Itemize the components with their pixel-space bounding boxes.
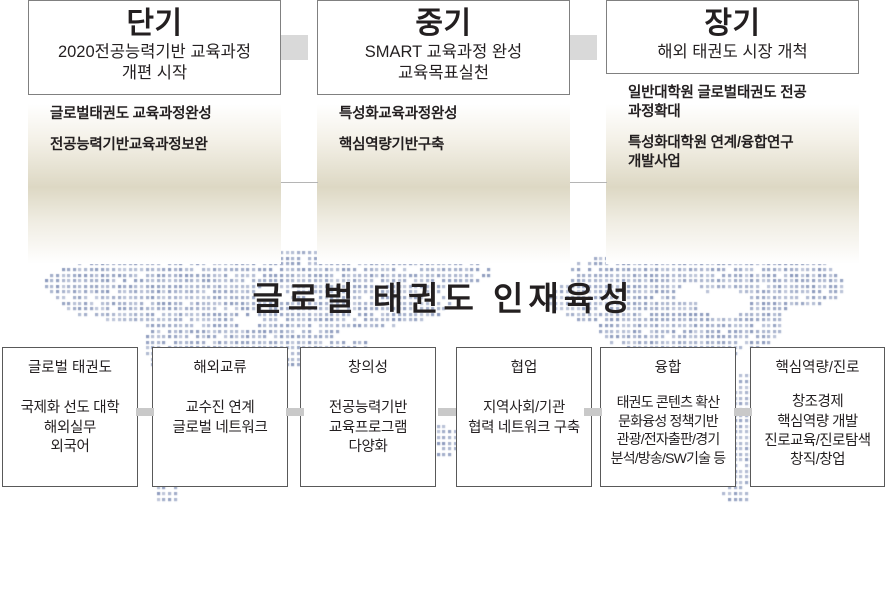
roadmap-diagram: 단기 2020전공능력기반 교육과정 개편 시작 글로벌태권도 교육과정완성 전…	[0, 0, 887, 595]
phase-box-long-term: 장기 해외 태권도 시장 개척	[606, 0, 859, 74]
pillar-heading: 해외교류	[156, 360, 284, 377]
phase-title: 중기	[326, 7, 561, 41]
phase-bullet-list: 일반대학원 글로벌태권도 전공 과정확대 특성화대학원 연계/융합연구 개발사업	[606, 74, 859, 173]
phase-bullet: 일반대학원 글로벌태권도 전공 과정확대	[628, 84, 859, 122]
pillar-heading: 융합	[604, 360, 732, 377]
phase-bullet: 전공능력기반교육과정보완	[50, 136, 281, 155]
pillar-connector-5	[734, 408, 752, 416]
phase-bullet-list: 글로벌태권도 교육과정완성 전공능력기반교육과정보완	[28, 95, 281, 155]
phase-title: 단기	[37, 7, 272, 41]
phase-box-short-term: 단기 2020전공능력기반 교육과정 개편 시작	[28, 0, 281, 95]
phase-bullet: 특성화대학원 연계/융합연구 개발사업	[628, 134, 859, 172]
phase-gap-rule-left	[281, 182, 318, 183]
phase-column-long-term: 장기 해외 태권도 시장 개척 일반대학원 글로벌태권도 전공 과정확대 특성화…	[606, 0, 859, 184]
pillar-body: 전공능력기반 교육프로그램 다양화	[304, 399, 432, 456]
pillar-card-convergence: 융합 태권도 콘텐츠 확산 문화융성 정책기반 관광/전자출판/경기 분석/방송…	[600, 347, 736, 487]
phase-subtitle: 해외 태권도 시장 개척	[615, 42, 850, 63]
pillar-heading: 창의성	[304, 360, 432, 377]
phase-bullet-list: 특성화교육과정완성 핵심역량기반구축	[317, 95, 570, 155]
pillar-connector-3	[438, 408, 456, 416]
pillar-heading: 글로벌 태권도	[6, 360, 134, 377]
pillar-body: 국제화 선도 대학 해외실무 외국어	[6, 399, 134, 456]
phase-bullet: 핵심역량기반구축	[339, 136, 570, 155]
pillar-heading: 핵심역량/진로	[754, 360, 881, 377]
phase-box-mid-term: 중기 SMART 교육과정 완성 교육목표실천	[317, 0, 570, 95]
pillar-connector-4	[584, 408, 602, 416]
phase-title: 장기	[615, 7, 850, 41]
phase-bullet: 특성화교육과정완성	[339, 105, 570, 124]
phase-column-short-term: 단기 2020전공능력기반 교육과정 개편 시작 글로벌태권도 교육과정완성 전…	[28, 0, 281, 167]
pillar-connector-2	[286, 408, 304, 416]
phase-column-mid-term: 중기 SMART 교육과정 완성 교육목표실천 특성화교육과정완성 핵심역량기반…	[317, 0, 570, 167]
pillar-connector-1	[136, 408, 154, 416]
phase-bullet: 글로벌태권도 교육과정완성	[50, 105, 281, 124]
phase-subtitle: 2020전공능력기반 교육과정 개편 시작	[37, 42, 272, 84]
pillar-body: 태권도 콘텐츠 확산 문화융성 정책기반 관광/전자출판/경기 분석/방송/SW…	[604, 393, 732, 467]
pillar-card-core-competency-career: 핵심역량/진로 창조경제 핵심역량 개발 진로교육/진로탐색 창직/창업	[750, 347, 885, 487]
pillar-card-creativity: 창의성 전공능력기반 교육프로그램 다양화	[300, 347, 436, 487]
diagram-headline: 글로벌 태권도 인재육성	[0, 272, 887, 320]
phase-gap-rule-right	[570, 182, 607, 183]
pillar-body: 교수진 연계 글로벌 네트워크	[156, 399, 284, 437]
pillar-card-overseas-exchange: 해외교류 교수진 연계 글로벌 네트워크	[152, 347, 288, 487]
pillar-card-collaboration: 협업 지역사회/기관 협력 네트워크 구축	[456, 347, 592, 487]
pillar-body: 지역사회/기관 협력 네트워크 구축	[460, 399, 588, 437]
pillar-card-global-taekwondo: 글로벌 태권도 국제화 선도 대학 해외실무 외국어	[2, 347, 138, 487]
pillar-body: 창조경제 핵심역량 개발 진로교육/진로탐색 창직/창업	[754, 393, 881, 470]
pillar-heading: 협업	[460, 360, 588, 377]
phase-subtitle: SMART 교육과정 완성 교육목표실천	[326, 42, 561, 84]
